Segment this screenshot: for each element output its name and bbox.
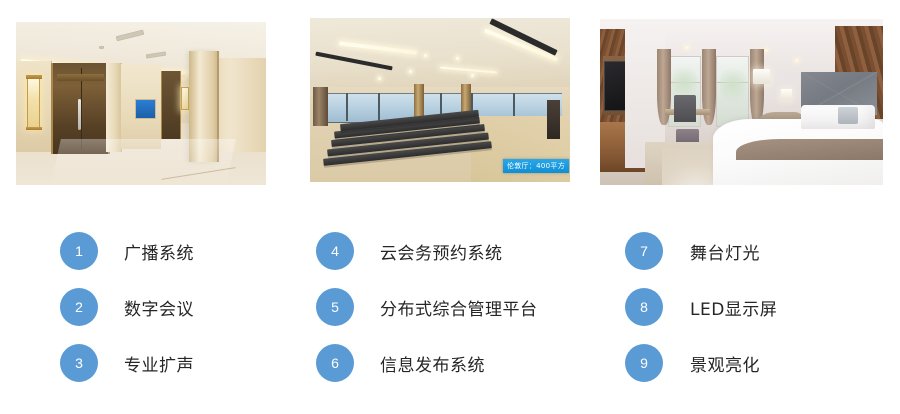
photo-gallery: 伦敦厅：400平方 — [0, 0, 900, 200]
feature-label: LED显示屏 — [690, 295, 777, 320]
photo-guest-room — [600, 19, 883, 185]
hall-room-label: 伦敦厅：400平方 — [503, 159, 569, 173]
room-bed-runner — [736, 139, 883, 161]
feature-label: 云会务预约系统 — [380, 239, 503, 264]
feature-label: 专业扩声 — [124, 351, 194, 376]
feature-column-1: 1 广播系统 2 数字会议 3 专业扩声 — [0, 200, 300, 414]
feature-label: 分布式综合管理平台 — [380, 295, 538, 320]
lobby-wall-sconce — [27, 77, 40, 128]
hall-downlight — [378, 77, 381, 80]
lobby-floor-reflection — [51, 139, 236, 185]
room-curtain — [750, 49, 764, 125]
lobby-ceiling-speaker — [99, 46, 104, 48]
feature-number-badge: 9 — [625, 344, 663, 382]
lobby-far-elevator — [161, 71, 181, 139]
feature-label: 舞台灯光 — [690, 239, 760, 264]
lobby-information-screen — [135, 99, 156, 119]
room-accent-pillow — [838, 107, 858, 124]
feature-column-3: 7 舞台灯光 8 LED显示屏 9 景观亮化 — [600, 200, 900, 414]
room-floor-lamp — [753, 69, 770, 84]
hall-ceiling — [310, 18, 570, 87]
window-foliage — [720, 63, 746, 106]
hall-scene: 伦敦厅：400平方 — [310, 18, 570, 182]
room-bedside-lamp — [781, 89, 792, 101]
feature-item[interactable]: 4 云会务预约系统 — [300, 232, 503, 270]
photo-hotel-lift-lobby — [16, 22, 266, 185]
feature-item[interactable]: 8 LED显示屏 — [600, 288, 777, 326]
feature-item[interactable]: 2 数字会议 — [0, 288, 194, 326]
photo-conference-hall: 伦敦厅：400平方 — [310, 18, 570, 182]
elevator-handle — [78, 99, 81, 130]
feature-list: 1 广播系统 2 数字会议 3 专业扩声 4 云会务预约系统 5 分布式综合管理… — [0, 200, 900, 414]
feature-number-badge: 4 — [316, 232, 354, 270]
room-downlight — [764, 49, 768, 52]
feature-number-badge: 7 — [625, 232, 663, 270]
room-downlight — [685, 46, 689, 49]
feature-item[interactable]: 9 景观亮化 — [600, 344, 760, 382]
lobby-scene — [16, 22, 266, 185]
feature-number-badge: 8 — [625, 288, 663, 326]
lobby-far-sconce — [181, 87, 189, 110]
hall-downlight — [471, 74, 474, 77]
feature-item[interactable]: 7 舞台灯光 — [600, 232, 760, 270]
hall-chair-rows — [315, 113, 507, 179]
room-window — [716, 56, 749, 128]
room-scene — [600, 19, 883, 185]
feature-item[interactable]: 3 专业扩声 — [0, 344, 194, 382]
elevator-transom — [57, 74, 103, 81]
feature-item[interactable]: 5 分布式综合管理平台 — [300, 288, 538, 326]
feature-label: 景观亮化 — [690, 351, 760, 376]
feature-label: 数字会议 — [124, 295, 194, 320]
feature-number-badge: 6 — [316, 344, 354, 382]
feature-number-badge: 1 — [60, 232, 98, 270]
feature-number-badge: 5 — [316, 288, 354, 326]
feature-number-badge: 2 — [60, 288, 98, 326]
feature-item[interactable]: 1 广播系统 — [0, 232, 194, 270]
feature-column-2: 4 云会务预约系统 5 分布式综合管理平台 6 信息发布系统 — [300, 200, 600, 414]
room-desk-chair — [674, 95, 697, 122]
feature-label: 信息发布系统 — [380, 351, 485, 376]
feature-label: 广播系统 — [124, 239, 194, 264]
feature-item[interactable]: 6 信息发布系统 — [300, 344, 485, 382]
hall-speaker-stack — [547, 100, 560, 139]
feature-number-badge: 3 — [60, 344, 98, 382]
